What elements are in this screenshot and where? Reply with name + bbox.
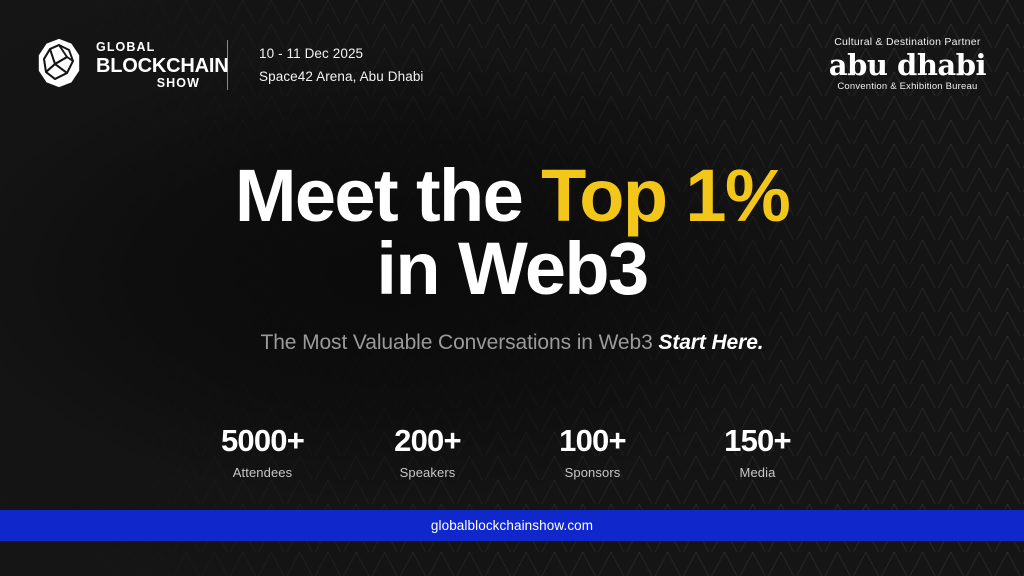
stat-value: 5000+ (180, 425, 345, 456)
headline-plain-text: Meet the (235, 154, 541, 237)
stat-item: 200+ Speakers (345, 425, 510, 480)
stat-label: Speakers (345, 465, 510, 480)
brand-line-global: GLOBAL (96, 41, 200, 54)
headline-line-1: Meet the Top 1% (235, 154, 789, 237)
subtitle-accent-text: Start Here. (658, 331, 763, 354)
stats-row: 5000+ Attendees 200+ Speakers 100+ Spons… (180, 425, 840, 480)
stat-value: 100+ (510, 425, 675, 456)
partner-subtitle: Convention & Exhibition Bureau (829, 81, 986, 92)
hero-subtitle: The Most Valuable Conversations in Web3 … (0, 331, 1024, 355)
stat-label: Media (675, 465, 840, 480)
website-url[interactable]: globalblockchainshow.com (431, 518, 593, 533)
stat-label: Attendees (180, 465, 345, 480)
stat-value: 200+ (345, 425, 510, 456)
event-details: 10 - 11 Dec 2025 Space42 Arena, Abu Dhab… (259, 42, 424, 88)
partner-wordmark: abu dhabi (829, 50, 986, 80)
subtitle-plain-text: The Most Valuable Conversations in Web3 (260, 331, 658, 354)
event-promo-banner: GLOBAL BLOCKCHAIN SHOW 10 - 11 Dec 2025 … (0, 0, 1024, 576)
brand-line-blockchain: BLOCKCHAIN (96, 56, 200, 76)
stat-item: 100+ Sponsors (510, 425, 675, 480)
partner-kicker: Cultural & Destination Partner (829, 36, 986, 48)
stat-label: Sponsors (510, 465, 675, 480)
website-url-bar[interactable]: globalblockchainshow.com (0, 510, 1024, 541)
headline-accent-text: Top 1% (541, 154, 789, 237)
hero-section: Meet the Top 1% in Web3 The Most Valuabl… (0, 160, 1024, 355)
partner-lockup: Cultural & Destination Partner abu dhabi… (829, 36, 986, 92)
stat-value: 150+ (675, 425, 840, 456)
brand-wordmark: GLOBAL BLOCKCHAIN SHOW (96, 41, 200, 89)
faceted-gem-icon (36, 37, 82, 94)
headline-line-2: in Web3 (376, 227, 647, 310)
page-title: Meet the Top 1% in Web3 (0, 160, 1024, 305)
brand-line-show: SHOW (96, 77, 200, 90)
stat-item: 150+ Media (675, 425, 840, 480)
banner-header: GLOBAL BLOCKCHAIN SHOW 10 - 11 Dec 2025 … (0, 0, 1024, 130)
brand-lockup: GLOBAL BLOCKCHAIN SHOW 10 - 11 Dec 2025 … (36, 37, 424, 94)
event-venue: Space42 Arena, Abu Dhabi (259, 65, 424, 88)
stat-item: 5000+ Attendees (180, 425, 345, 480)
event-dates: 10 - 11 Dec 2025 (259, 42, 424, 65)
